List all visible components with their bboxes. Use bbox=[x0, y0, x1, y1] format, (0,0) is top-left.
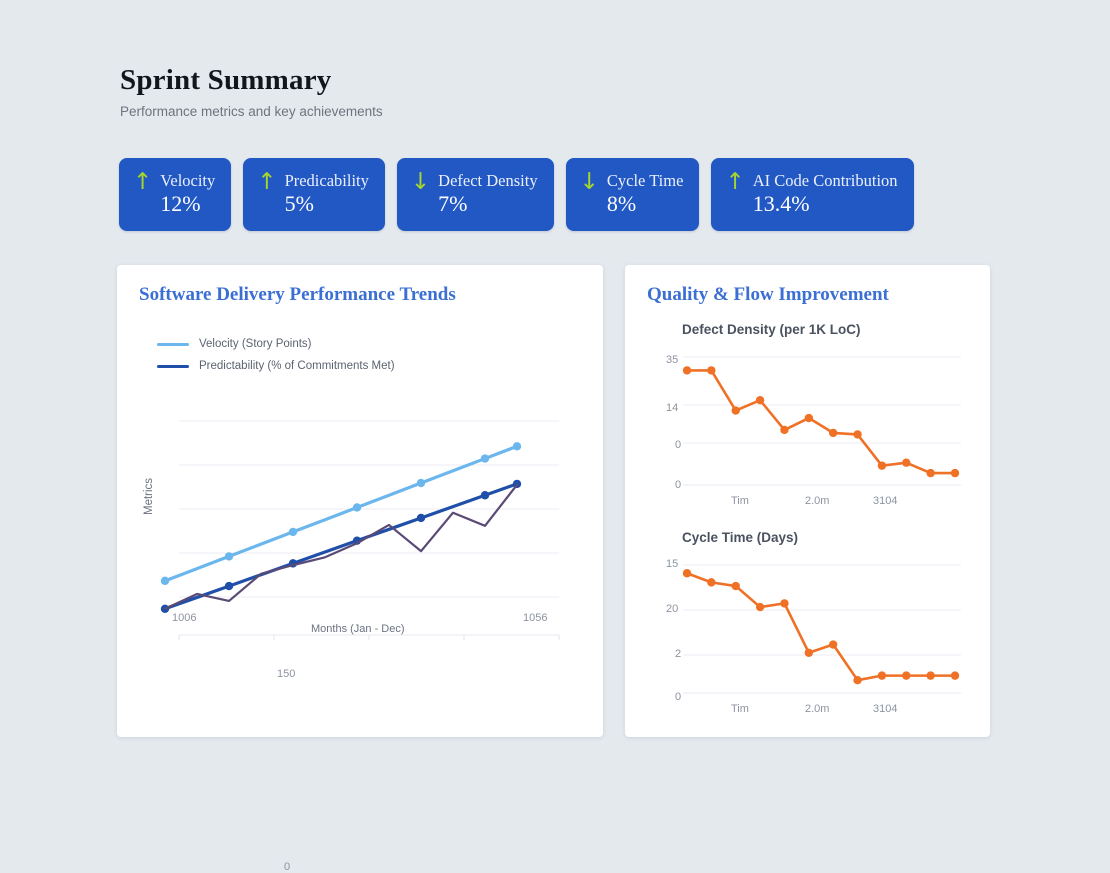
cycle-y-tick-2: 2 bbox=[675, 648, 681, 660]
kpi-card-predicability[interactable]: ↑ Predicability 5% bbox=[243, 158, 385, 231]
kpi-value: 7% bbox=[438, 191, 537, 216]
cycle-x-tick-0: Tim bbox=[731, 703, 749, 715]
kpi-card-defect-density[interactable]: ↓ Defect Density 7% bbox=[397, 158, 554, 231]
legend-swatch-icon bbox=[157, 343, 189, 346]
cycle-y-tick-0: 15 bbox=[666, 558, 678, 570]
cycle-y-tick-3: 0 bbox=[675, 691, 681, 703]
defect-x-tick-0: Tim bbox=[731, 495, 749, 507]
y-axis-tick-bottom: 0 bbox=[284, 861, 290, 873]
page-header: Sprint Summary Performance metrics and k… bbox=[120, 62, 383, 120]
x-axis-tick-left: 1006 bbox=[172, 612, 196, 624]
sprint-summary-page: Sprint Summary Performance metrics and k… bbox=[0, 0, 1110, 800]
legend-label: Predictability (% of Commitments Met) bbox=[199, 360, 395, 372]
defect-x-tick-1: 2.0m bbox=[805, 495, 829, 507]
defect-y-tick-3: 0 bbox=[675, 479, 681, 491]
arrow-down-icon: ↓ bbox=[580, 171, 599, 193]
legend-label: Velocity (Story Points) bbox=[199, 338, 311, 350]
cycle-x-tick-2: 3104 bbox=[873, 703, 897, 715]
performance-trends-chart[interactable] bbox=[117, 405, 603, 705]
defect-x-tick-2: 3104 bbox=[873, 495, 897, 507]
kpi-label: Cycle Time bbox=[607, 171, 684, 190]
arrow-up-icon: ↑ bbox=[257, 171, 276, 193]
kpi-card-cycle-time[interactable]: ↓ Cycle Time 8% bbox=[566, 158, 700, 231]
kpi-label: AI Code Contribution bbox=[753, 171, 898, 190]
kpi-value: 13.4% bbox=[753, 191, 898, 216]
y-axis-title: Metrics bbox=[143, 478, 155, 515]
kpi-label: Predicability bbox=[285, 171, 369, 190]
panel-title-quality: Quality & Flow Improvement bbox=[647, 284, 889, 306]
kpi-label: Defect Density bbox=[438, 171, 537, 190]
page-subtitle: Performance metrics and key achievements bbox=[120, 104, 383, 120]
arrow-up-icon: ↑ bbox=[725, 171, 744, 193]
x-axis-tick-right: 1056 bbox=[523, 612, 547, 624]
kpi-value: 8% bbox=[607, 191, 684, 216]
kpi-card-velocity[interactable]: ↑ Velocity 12% bbox=[119, 158, 231, 231]
defect-y-tick-1: 14 bbox=[666, 402, 678, 414]
kpi-card-ai-code-contribution[interactable]: ↑ AI Code Contribution 13.4% bbox=[711, 158, 913, 231]
defect-y-tick-0: 35 bbox=[666, 354, 678, 366]
page-title: Sprint Summary bbox=[120, 62, 383, 98]
legend-item-velocity[interactable]: Velocity (Story Points) bbox=[157, 333, 395, 355]
quality-flow-panel: Quality & Flow Improvement Defect Densit… bbox=[625, 265, 990, 737]
performance-trends-panel: Software Delivery Performance Trends Vel… bbox=[117, 265, 603, 737]
cycle-y-tick-1: 20 bbox=[666, 603, 678, 615]
arrow-down-icon: ↓ bbox=[411, 171, 430, 193]
panel-title-performance: Software Delivery Performance Trends bbox=[139, 284, 456, 306]
legend-swatch-icon bbox=[157, 365, 189, 368]
kpi-label: Velocity bbox=[160, 171, 215, 190]
kpi-card-row: ↑ Velocity 12% ↑ Predicability 5% ↓ Defe… bbox=[119, 158, 914, 231]
defect-y-tick-2: 0 bbox=[675, 439, 681, 451]
chart-legend: Velocity (Story Points) Predictability (… bbox=[157, 333, 395, 377]
legend-item-predictability[interactable]: Predictability (% of Commitments Met) bbox=[157, 355, 395, 377]
subchart-title-cycle-time: Cycle Time (Days) bbox=[682, 530, 798, 545]
kpi-value: 12% bbox=[160, 191, 215, 216]
y-axis-tick-top: 150 bbox=[277, 668, 295, 680]
arrow-up-icon: ↑ bbox=[133, 171, 152, 193]
kpi-value: 5% bbox=[285, 191, 369, 216]
x-axis-title: Months (Jan - Dec) bbox=[311, 623, 405, 635]
subchart-title-defect-density: Defect Density (per 1K LoC) bbox=[682, 322, 861, 337]
cycle-x-tick-1: 2.0m bbox=[805, 703, 829, 715]
